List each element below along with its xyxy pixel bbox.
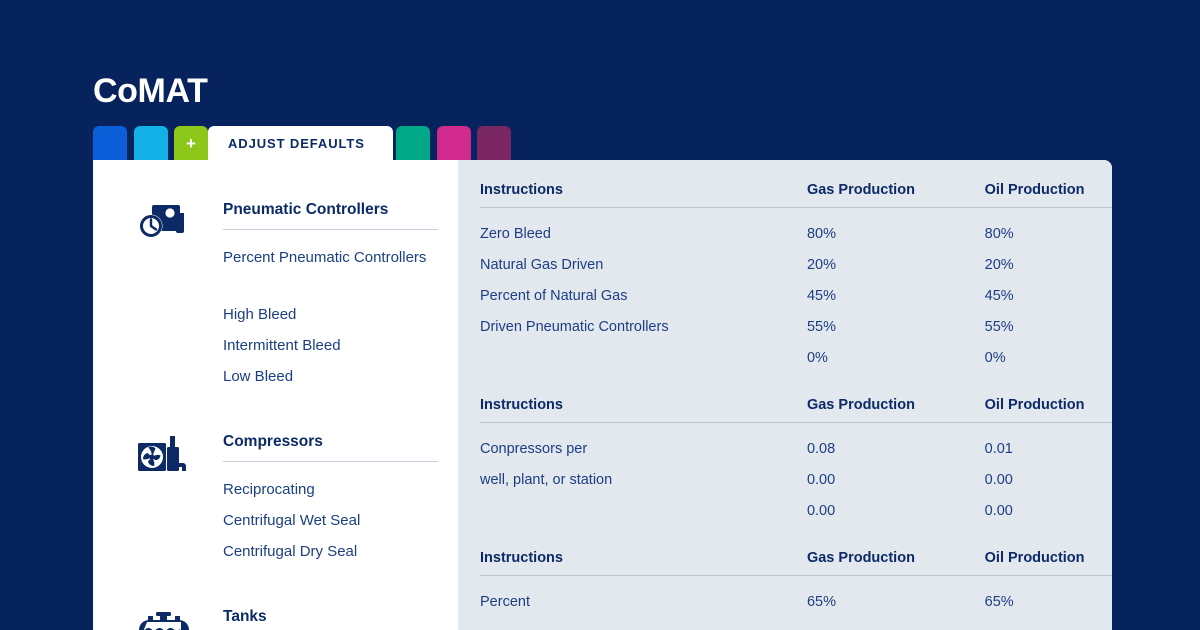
col-header-instructions: Instructions xyxy=(480,182,807,208)
cell-gas-production[interactable]: 0.08 xyxy=(807,423,985,465)
app-logo-comat: CoMAT xyxy=(93,70,207,112)
table-block-pneumatic-controllers: Instructions Gas Production Oil Producti… xyxy=(480,182,1112,373)
table-header-row: Instructions Gas Production Oil Producti… xyxy=(480,550,1112,576)
cell-gas-production[interactable]: 45% xyxy=(807,280,985,311)
sidebar-item-percent-pneumatic-controllers[interactable]: Percent Pneumatic Controllers xyxy=(223,242,458,273)
cell-gas-production[interactable]: 0% xyxy=(807,342,985,373)
table-header-row: Instructions Gas Production Oil Producti… xyxy=(480,182,1112,208)
table-row: 0% 0% 0% xyxy=(480,342,1112,373)
cell-gas-production[interactable]: 0.00 xyxy=(807,495,985,526)
table-block-compressors: Instructions Gas Production Oil Producti… xyxy=(480,397,1112,526)
sidebar-group-title: Tanks xyxy=(223,607,438,627)
cell-oil-production[interactable]: 45% xyxy=(985,280,1112,311)
col-header-instructions: Instructions xyxy=(480,397,807,423)
table-tanks: Instructions Gas Production Oil Producti… xyxy=(480,550,1112,617)
cell-oil-production[interactable]: 0.00 xyxy=(985,464,1112,495)
tab-strip: + ADJUST DEFAULTS xyxy=(93,126,1113,160)
cell-oil-production[interactable]: 55% xyxy=(985,311,1112,342)
cell-instruction: Percent xyxy=(480,576,807,618)
sidebar-group-pneumatic-controllers: Pneumatic Controllers Percent Pneumatic … xyxy=(93,200,458,392)
table-row: Percent of Natural Gas 45% 45% 45% xyxy=(480,280,1112,311)
sidebar-item-centrifugal-wet-seal[interactable]: Centrifugal Wet Seal xyxy=(223,505,458,536)
col-header-oil-production: Oil Production xyxy=(985,182,1112,208)
cell-instruction: Zero Bleed xyxy=(480,208,807,250)
tab-swatch-purple[interactable] xyxy=(477,126,511,160)
sidebar-group-header-tanks: Tanks xyxy=(223,607,438,630)
cell-oil-production[interactable]: 65% xyxy=(985,576,1112,618)
cell-oil-production[interactable]: 0.01 xyxy=(985,423,1112,465)
sidebar-item-centrifugal-dry-seal[interactable]: Centrifugal Dry Seal xyxy=(223,536,458,567)
cell-oil-production[interactable]: 0.00 xyxy=(985,495,1112,526)
tab-adjust-defaults[interactable]: ADJUST DEFAULTS xyxy=(208,126,393,160)
sidebar-group-tanks: Tanks Large Tanks with Fla xyxy=(93,607,458,630)
sidebar-item-low-bleed[interactable]: Low Bleed xyxy=(223,361,458,392)
cell-instruction: Percent of Natural Gas xyxy=(480,280,807,311)
cell-instruction: Driven Pneumatic Controllers xyxy=(480,311,807,342)
cell-gas-production[interactable]: 0.00 xyxy=(807,464,985,495)
sidebar-nav: Pneumatic Controllers Percent Pneumatic … xyxy=(93,160,458,630)
table-row: Driven Pneumatic Controllers 55% 55% 55% xyxy=(480,311,1112,342)
tab-swatch-pink[interactable] xyxy=(437,126,471,160)
pneumatic-controller-icon xyxy=(135,200,193,246)
col-header-gas-production: Gas Production xyxy=(807,182,985,208)
sidebar-item-high-bleed[interactable]: High Bleed xyxy=(223,299,458,330)
sidebar-group-items-pneumatic: Percent Pneumatic Controllers High Bleed… xyxy=(223,242,458,392)
cell-gas-production[interactable]: 20% xyxy=(807,249,985,280)
cell-oil-production[interactable]: 80% xyxy=(985,208,1112,250)
col-header-oil-production: Oil Production xyxy=(985,550,1112,576)
cell-oil-production[interactable]: 0% xyxy=(985,342,1112,373)
sidebar-group-header-compressors: Compressors xyxy=(223,432,438,462)
tank-icon xyxy=(135,607,193,630)
tab-swatch-cyan[interactable] xyxy=(134,126,168,160)
cell-gas-production[interactable]: 55% xyxy=(807,311,985,342)
app-root: CoMAT + ADJUST DEFAULTS xyxy=(0,0,1200,630)
col-header-oil-production: Oil Production xyxy=(985,397,1112,423)
table-pneumatic-controllers: Instructions Gas Production Oil Producti… xyxy=(480,182,1112,373)
tab-swatch-blue[interactable] xyxy=(93,126,127,160)
cell-instruction xyxy=(480,495,807,526)
col-header-gas-production: Gas Production xyxy=(807,550,985,576)
sidebar-group-header-pneumatic: Pneumatic Controllers xyxy=(223,200,438,230)
sidebar-group-items-compressors: Reciprocating Centrifugal Wet Seal Centr… xyxy=(223,474,458,567)
data-panel: Instructions Gas Production Oil Producti… xyxy=(458,160,1112,630)
table-row: well, plant, or station 0.00 0.00 0.51 xyxy=(480,464,1112,495)
table-row: Conpressors per 0.08 0.01 6.12 xyxy=(480,423,1112,465)
tab-swatch-teal[interactable] xyxy=(396,126,430,160)
cell-gas-production[interactable]: 65% xyxy=(807,576,985,618)
col-header-gas-production: Gas Production xyxy=(807,397,985,423)
sidebar-group-title: Compressors xyxy=(223,432,438,452)
tab-adjust-defaults-label: ADJUST DEFAULTS xyxy=(228,136,365,151)
table-row: Zero Bleed 80% 80% 80% xyxy=(480,208,1112,250)
sidebar-group-compressors: Compressors Reciprocating Centrifugal We… xyxy=(93,432,458,567)
compressor-icon xyxy=(135,432,193,478)
sidebar-group-title: Pneumatic Controllers xyxy=(223,200,438,220)
main-card: Pneumatic Controllers Percent Pneumatic … xyxy=(93,160,1112,630)
sidebar-item-reciprocating[interactable]: Reciprocating xyxy=(223,474,458,505)
cell-oil-production[interactable]: 20% xyxy=(985,249,1112,280)
cell-instruction: Conpressors per xyxy=(480,423,807,465)
cell-instruction: well, plant, or station xyxy=(480,464,807,495)
sidebar-item-intermittent-bleed[interactable]: Intermittent Bleed xyxy=(223,330,458,361)
tab-add-new-button[interactable]: + xyxy=(174,126,208,160)
plus-icon: + xyxy=(174,126,208,160)
table-block-tanks: Instructions Gas Production Oil Producti… xyxy=(480,550,1112,617)
table-row: Natural Gas Driven 20% 20% 20% xyxy=(480,249,1112,280)
table-row: 0.00 0.00 0.51 xyxy=(480,495,1112,526)
table-compressors: Instructions Gas Production Oil Producti… xyxy=(480,397,1112,526)
col-header-instructions: Instructions xyxy=(480,550,807,576)
table-row: Percent 65% 65% xyxy=(480,576,1112,618)
table-header-row: Instructions Gas Production Oil Producti… xyxy=(480,397,1112,423)
cell-instruction: Natural Gas Driven xyxy=(480,249,807,280)
cell-gas-production[interactable]: 80% xyxy=(807,208,985,250)
cell-instruction xyxy=(480,342,807,373)
tables-container: Instructions Gas Production Oil Producti… xyxy=(458,182,1112,617)
